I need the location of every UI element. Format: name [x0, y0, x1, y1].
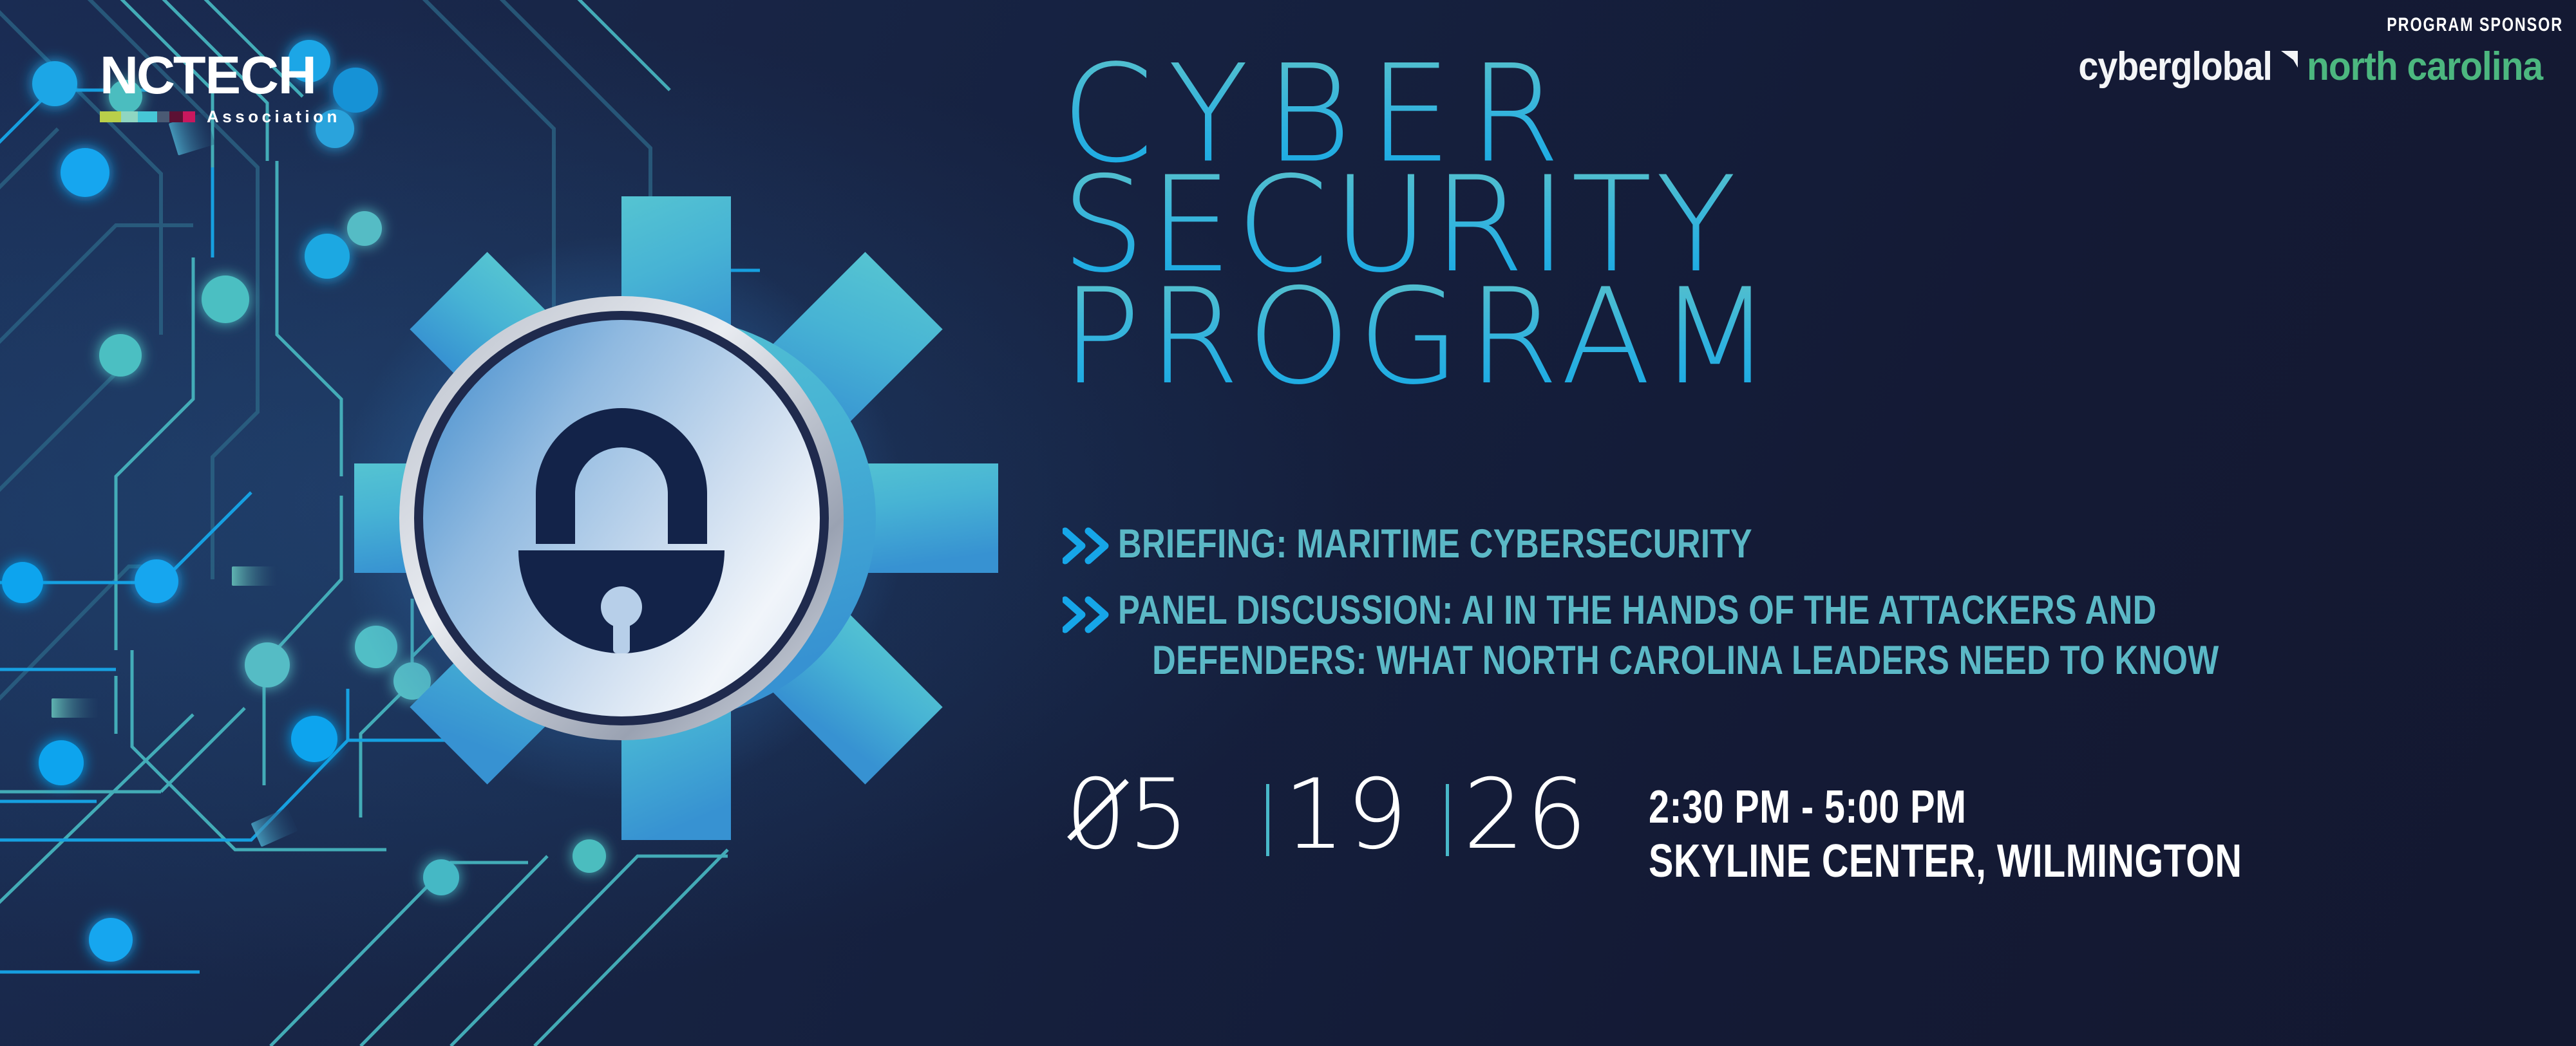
content-column: PROGRAM SPONSOR cyberglobal north caroli…	[1056, 0, 2576, 1046]
date-year: 26	[1463, 769, 1611, 866]
session-item: BRIEFING: MARITIME CYBERSECURITY	[1063, 518, 2537, 571]
chevron-double-right-icon	[1063, 587, 1118, 637]
sponsor-region: north carolina	[2307, 47, 2543, 87]
chevron-double-right-icon	[1063, 518, 1118, 568]
logo-tech: TECH	[173, 45, 316, 105]
session-item: PANEL DISCUSSION: AI IN THE HANDS OF THE…	[1063, 587, 2537, 687]
headline-line-3: PROGRAM	[1061, 274, 2092, 413]
date-separator	[1446, 784, 1449, 856]
sponsor-arrow-icon	[2278, 48, 2300, 87]
event-when-where: 2:30 PM - 5:00 PM SKYLINE CENTER, WILMIN…	[1649, 769, 2391, 888]
event-date: 05 19 26	[1065, 769, 1611, 866]
session-title-2-line2: DEFENDERS: WHAT NORTH CAROLINA LEADERS N…	[1118, 635, 2544, 687]
sponsor-company: cyberglobal	[2079, 47, 2272, 87]
headline-text-3: PROGRAM	[1061, 274, 1779, 413]
session-title-1: BRIEFING: MARITIME CYBERSECURITY	[1118, 518, 2260, 571]
event-time: 2:30 PM - 5:00 PM	[1649, 781, 2242, 835]
sponsor-label: PROGRAM SPONSOR	[2061, 14, 2563, 36]
session-title-2-line1: PANEL DISCUSSION: AI IN THE HANDS OF THE…	[1118, 584, 2544, 637]
nctech-logo: NCTECH Association	[100, 50, 341, 127]
circuit-chip	[52, 112, 298, 847]
date-day: 19	[1283, 769, 1432, 866]
svg-text:05: 05	[1065, 769, 1191, 866]
date-separator	[1266, 784, 1269, 856]
event-banner: NCTECH Association	[0, 0, 2576, 1046]
event-location: SKYLINE CENTER, WILMINGTON	[1649, 835, 2242, 889]
gear-lock-graphic	[351, 161, 1001, 875]
session-list: BRIEFING: MARITIME CYBERSECURITY PANEL D…	[1063, 518, 2537, 704]
logo-wordmark: NCTECH	[100, 50, 341, 101]
svg-text:26: 26	[1463, 769, 1589, 866]
security-disc	[399, 296, 844, 740]
logo-color-bar	[100, 111, 195, 122]
date-month: 05	[1065, 769, 1252, 866]
event-details: 05 19 26 2:30 PM - 5:00 PM SKYLINE CENTE…	[1065, 769, 2391, 888]
logo-nc: NC	[100, 45, 173, 105]
svg-text:19: 19	[1283, 769, 1409, 866]
headline: CYBER SECURITY PROGRAM	[1061, 50, 2092, 416]
logo-subtitle: Association	[207, 107, 341, 127]
